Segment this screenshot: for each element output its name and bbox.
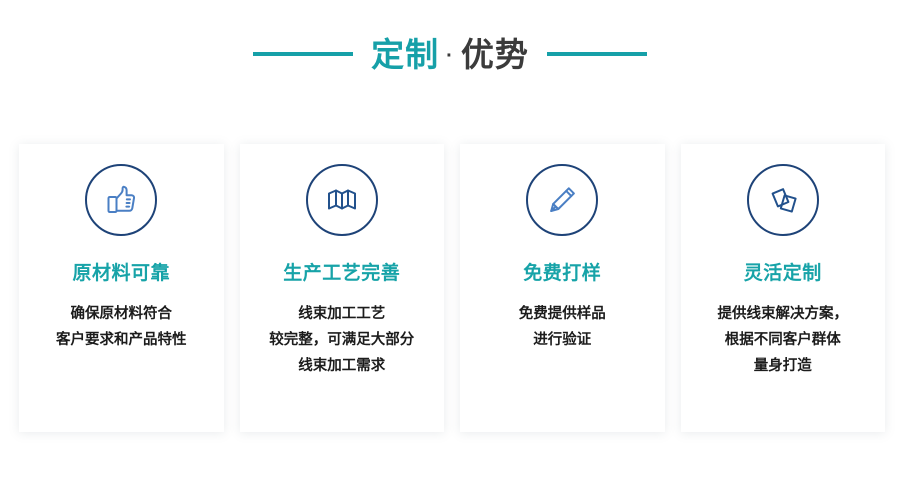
feature-card-body-line: 进行验证 — [519, 328, 606, 354]
feature-card-title: 灵活定制 — [744, 264, 822, 283]
feature-card-body-line: 客户要求和产品特性 — [56, 328, 187, 354]
folded-map-icon — [322, 180, 362, 220]
feature-card-body: 确保原材料符合 客户要求和产品特性 — [50, 302, 193, 354]
feature-card-body-line: 较完整，可满足大部分 — [269, 328, 414, 354]
feature-card-body-line: 确保原材料符合 — [56, 302, 187, 328]
icon-circle — [747, 164, 819, 236]
feature-card-body-line: 线束加工工艺 — [269, 302, 414, 328]
pencil-icon — [542, 180, 582, 220]
feature-card-body-line: 根据不同客户群体 — [718, 328, 849, 354]
page-title-secondary: 优势 — [461, 38, 529, 71]
feature-card-title: 原材料可靠 — [72, 264, 170, 283]
page-title-primary: 定制 — [371, 38, 439, 71]
feature-card-body-line: 免费提供样品 — [519, 302, 606, 328]
section-header: 定制 · 优势 — [0, 26, 900, 82]
icon-circle — [306, 164, 378, 236]
feature-card-title: 生产工艺完善 — [283, 264, 400, 283]
feature-card-raw-material[interactable]: 原材料可靠 确保原材料符合 客户要求和产品特性 — [19, 144, 224, 432]
feature-card-body: 免费提供样品 进行验证 — [513, 302, 612, 354]
feature-card-production-process[interactable]: 生产工艺完善 线束加工工艺 较完整，可满足大部分 线束加工需求 — [240, 144, 445, 432]
thumbs-up-icon — [101, 180, 141, 220]
feature-card-body-line: 提供线束解决方案， — [718, 302, 849, 328]
icon-circle — [85, 164, 157, 236]
feature-card-free-sample[interactable]: 免费打样 免费提供样品 进行验证 — [460, 144, 665, 432]
feature-card-body-line: 量身打造 — [718, 354, 849, 380]
header-rule-left — [253, 52, 353, 56]
icon-circle — [526, 164, 598, 236]
header-rule-right — [547, 52, 647, 56]
feature-card-body: 提供线束解决方案， 根据不同客户群体 量身打造 — [712, 302, 855, 379]
feature-card-body: 线束加工工艺 较完整，可满足大部分 线束加工需求 — [263, 302, 420, 379]
page-title-separator: · — [439, 46, 461, 66]
feature-card-title: 免费打样 — [523, 264, 601, 283]
feature-card-list: 原材料可靠 确保原材料符合 客户要求和产品特性 生产工艺完善 线束加工工艺 较完… — [19, 144, 885, 432]
stacked-cards-icon — [763, 180, 803, 220]
feature-card-flexible-customization[interactable]: 灵活定制 提供线束解决方案， 根据不同客户群体 量身打造 — [681, 144, 886, 432]
page-title: 定制 · 优势 — [371, 38, 529, 71]
feature-card-body-line: 线束加工需求 — [269, 354, 414, 380]
